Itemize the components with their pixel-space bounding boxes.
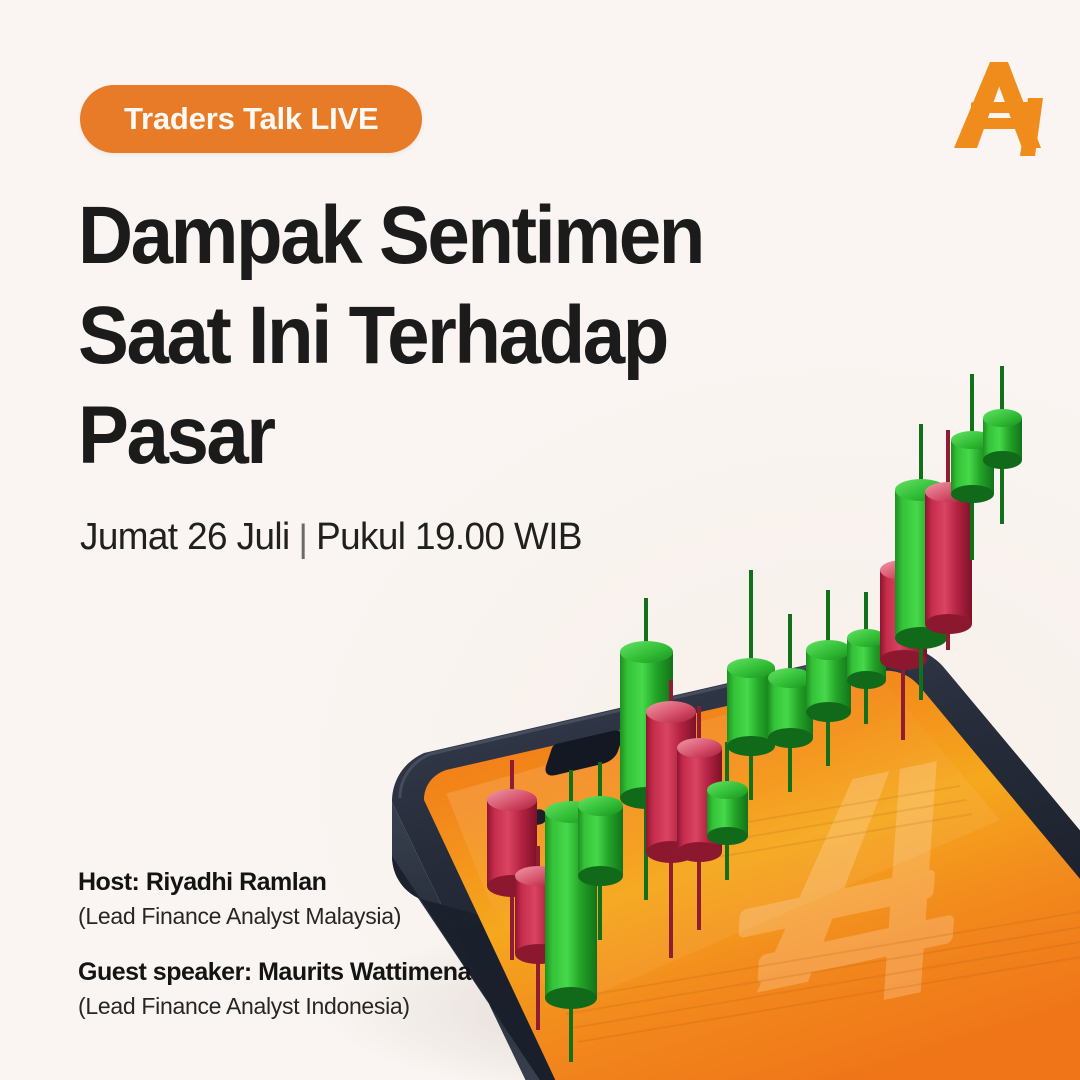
guest-speaker-role: (Lead Finance Analyst Indonesia) — [78, 990, 598, 1022]
page-title: Dampak Sentimen Saat Ini Terhadap Pasar — [78, 186, 748, 486]
live-badge: Traders Talk LIVE — [80, 85, 422, 153]
live-badge-label: Traders Talk LIVE — [124, 101, 378, 137]
event-date: Jumat 26 Juli — [80, 516, 290, 558]
host-role: (Lead Finance Analyst Malaysia) — [78, 900, 598, 932]
event-datetime: Jumat 26 Juli|Pukul 19.00 WIB — [80, 516, 582, 559]
credit-host: Host: Riyadhi Ramlan (Lead Finance Analy… — [78, 866, 598, 932]
guest-speaker-name: Guest speaker: Maurits Wattimena — [78, 956, 598, 988]
headline-line-2: Saat Ini Terhadap — [78, 286, 748, 386]
poster-content: Traders Talk LIVE Dampak Sentimen Saat I… — [0, 0, 1080, 1080]
promo-poster: Traders Talk LIVE Dampak Sentimen Saat I… — [0, 0, 1080, 1080]
headline-line-3: Pasar — [78, 386, 748, 486]
headline-line-1: Dampak Sentimen — [78, 186, 748, 286]
host-name: Host: Riyadhi Ramlan — [78, 866, 598, 898]
event-time: Pukul 19.00 WIB — [316, 516, 582, 558]
credits-list: Host: Riyadhi Ramlan (Lead Finance Analy… — [78, 866, 598, 1046]
credit-guest-speaker: Guest speaker: Maurits Wattimena (Lead F… — [78, 956, 598, 1022]
brand-a-logo-icon — [944, 52, 1052, 157]
datetime-separator: | — [298, 518, 307, 561]
